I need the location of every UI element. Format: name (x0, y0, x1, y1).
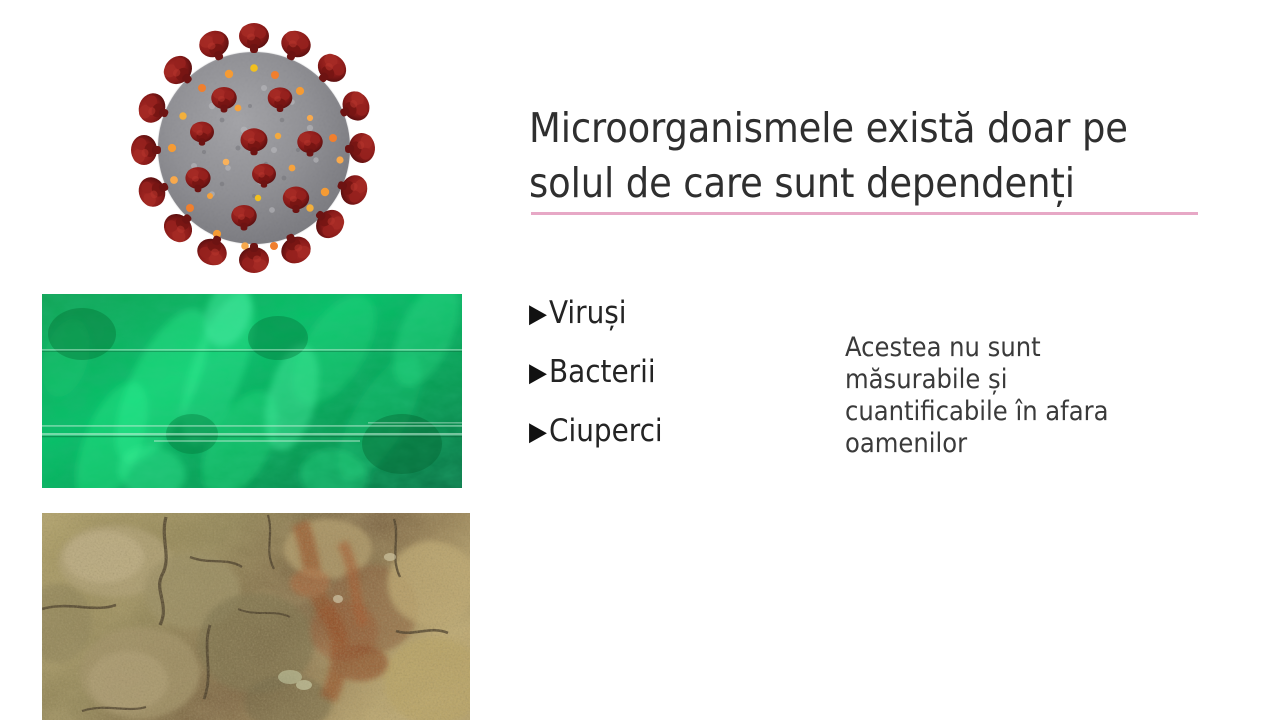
page-title: Microorganismele există doar pe solul de… (529, 101, 1201, 210)
bacteria-micrograph-image (42, 294, 462, 488)
list-item-label: Viruși (549, 298, 627, 329)
microorganism-list: ▶ Viruși ▶ Bacterii ▶ Ciuperci (529, 298, 819, 475)
virus-illustration-image (104, 2, 400, 290)
list-item-label: Ciuperci (549, 416, 663, 447)
list-item-label: Bacterii (549, 357, 656, 388)
list-item[interactable]: ▶ Ciuperci (529, 416, 819, 447)
fungi-mold-photo-image (42, 513, 470, 720)
triangle-bullet-icon: ▶ (529, 301, 547, 327)
list-item[interactable]: ▶ Bacterii (529, 357, 819, 388)
triangle-bullet-icon: ▶ (529, 360, 547, 386)
sidenote-text: Acestea nu sunt măsurabile și cuantifica… (845, 332, 1165, 461)
triangle-bullet-icon: ▶ (529, 419, 547, 445)
list-item[interactable]: ▶ Viruși (529, 298, 819, 329)
slide-canvas: Microorganismele există doar pe solul de… (0, 0, 1280, 720)
title-divider (531, 212, 1198, 215)
